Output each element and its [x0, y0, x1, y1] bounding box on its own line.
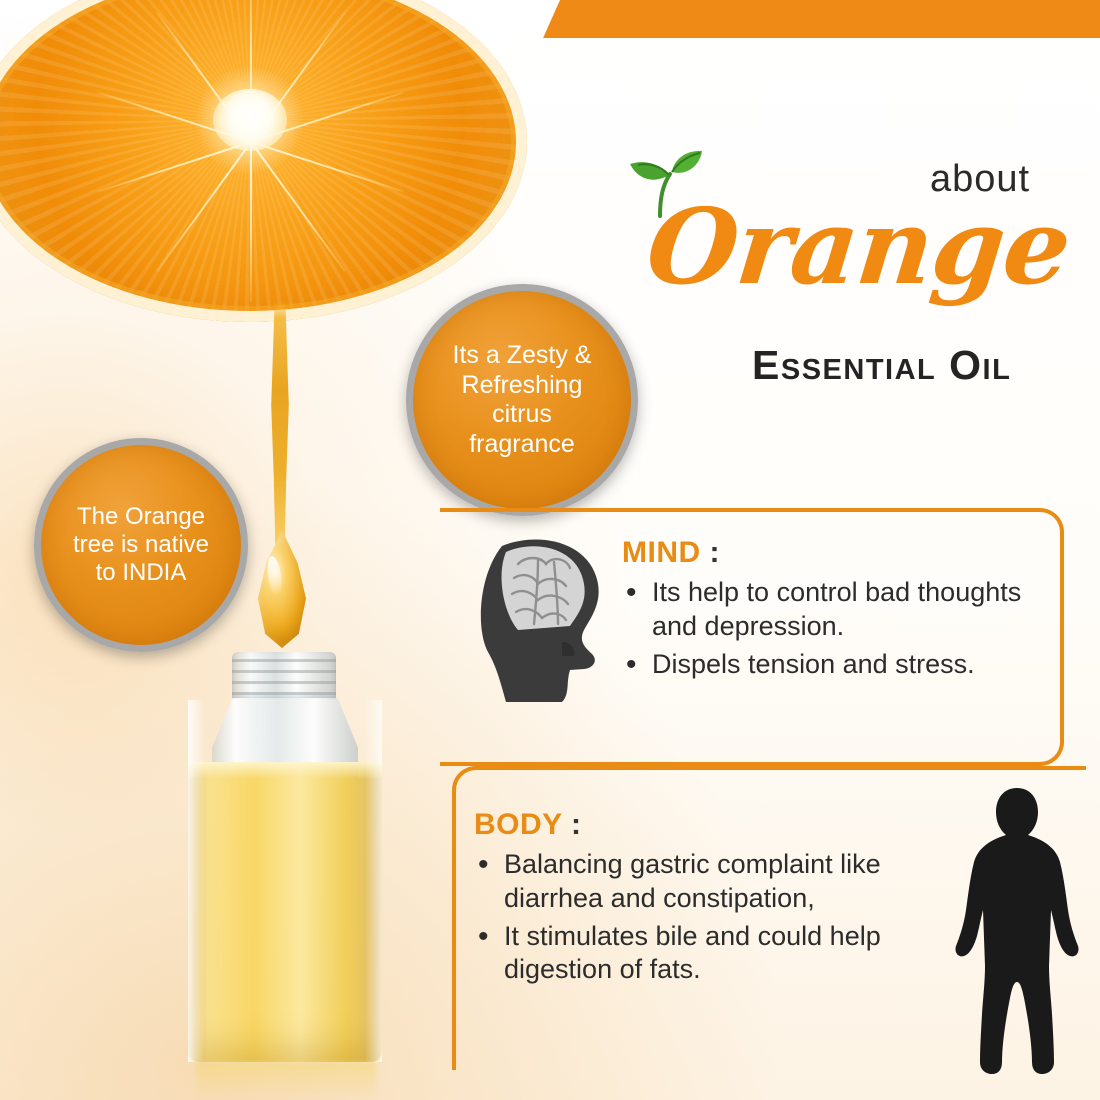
essential-oil-bottle-image: [188, 762, 382, 1062]
badge-india-text: The Orange tree is native to INDIA: [73, 503, 209, 588]
head-brain-icon: [466, 530, 626, 710]
list-item: Its help to control bad thoughts and dep…: [622, 576, 1042, 644]
bottle-glass-left-edge: [188, 700, 204, 1062]
list-item: It stimulates bile and could help digest…: [474, 920, 944, 988]
mind-section: MIND : Its help to control bad thoughts …: [622, 536, 1042, 685]
orange-slice-flesh: [0, 0, 527, 322]
page-subtitle: Essential Oil: [752, 342, 1011, 389]
badge-fragrance-text: Its a Zesty & Refreshing citrus fragranc…: [453, 341, 592, 459]
body-bullet-list: Balancing gastric complaint like diarrhe…: [474, 848, 944, 987]
body-title: BODY :: [474, 808, 944, 842]
badge-india: The Orange tree is native to INDIA: [34, 438, 248, 652]
bottle-neck: [232, 652, 336, 700]
bottle-glass-right-edge: [366, 700, 382, 1062]
list-item: Balancing gastric complaint like diarrhe…: [474, 848, 944, 916]
mind-title: MIND :: [622, 536, 1042, 570]
badge-fragrance: Its a Zesty & Refreshing citrus fragranc…: [406, 284, 638, 516]
mind-bullet-list: Its help to control bad thoughts and dep…: [622, 576, 1042, 681]
bottle-reflection: [196, 1062, 376, 1100]
page-title: Orange: [642, 185, 1076, 308]
top-orange-bar: [580, 0, 1100, 38]
orange-rind: [0, 0, 527, 322]
list-item: Dispels tension and stress.: [622, 648, 1042, 682]
human-body-silhouette-icon: [952, 786, 1082, 1076]
body-section: BODY : Balancing gastric complaint like …: [474, 808, 944, 991]
bottle-liquid-surface: [188, 762, 382, 778]
infographic-canvas: about Orange Essential Oil Its a Zesty &…: [0, 0, 1100, 1100]
